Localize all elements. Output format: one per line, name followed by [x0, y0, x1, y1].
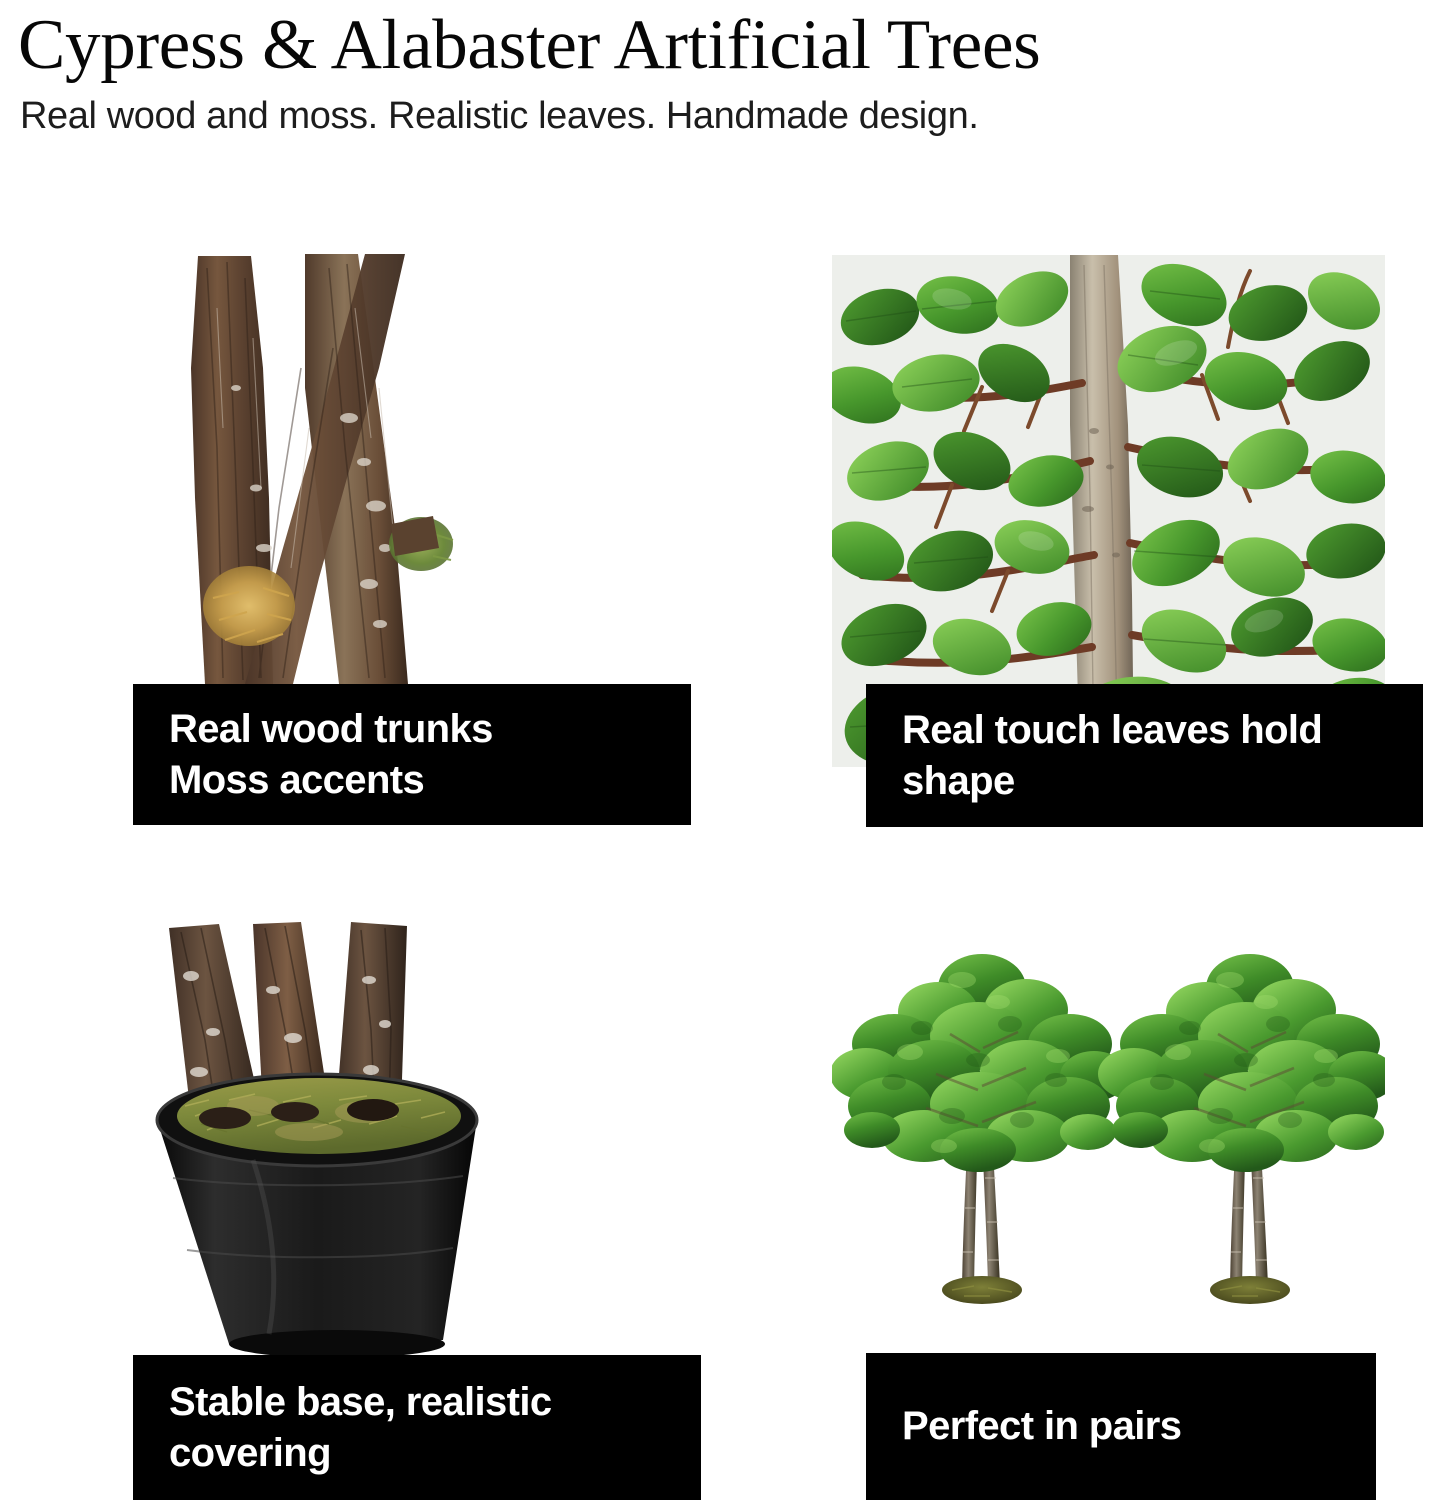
caption-line: Real wood trunks — [169, 704, 691, 755]
caption-line: Moss accents — [169, 755, 691, 806]
caption-line: covering — [169, 1428, 701, 1479]
stable-base-pot-photo — [133, 920, 701, 1355]
real-wood-trunks-photo — [133, 248, 691, 684]
caption-line: shape — [902, 756, 1423, 807]
infographic-page: Cypress & Alabaster Artificial Trees Rea… — [0, 0, 1436, 1500]
caption-perfect-in-pairs: Perfect in pairs — [866, 1353, 1376, 1500]
page-subtitle: Real wood and moss. Realistic leaves. Ha… — [14, 93, 1436, 139]
caption-line: Stable base, realistic — [169, 1377, 701, 1428]
moss-accent-tan — [203, 566, 295, 646]
caption-line: Perfect in pairs — [902, 1401, 1376, 1452]
page-title: Cypress & Alabaster Artificial Trees — [14, 6, 1436, 84]
caption-stable-base: Stable base, realistic covering — [133, 1355, 701, 1500]
header: Cypress & Alabaster Artificial Trees Rea… — [14, 6, 1436, 139]
caption-real-touch-leaves: Real touch leaves hold shape — [866, 684, 1423, 827]
caption-real-wood-trunks: Real wood trunks Moss accents — [133, 684, 691, 825]
perfect-in-pairs-photo — [832, 940, 1385, 1353]
caption-line: Real touch leaves hold — [902, 705, 1423, 756]
